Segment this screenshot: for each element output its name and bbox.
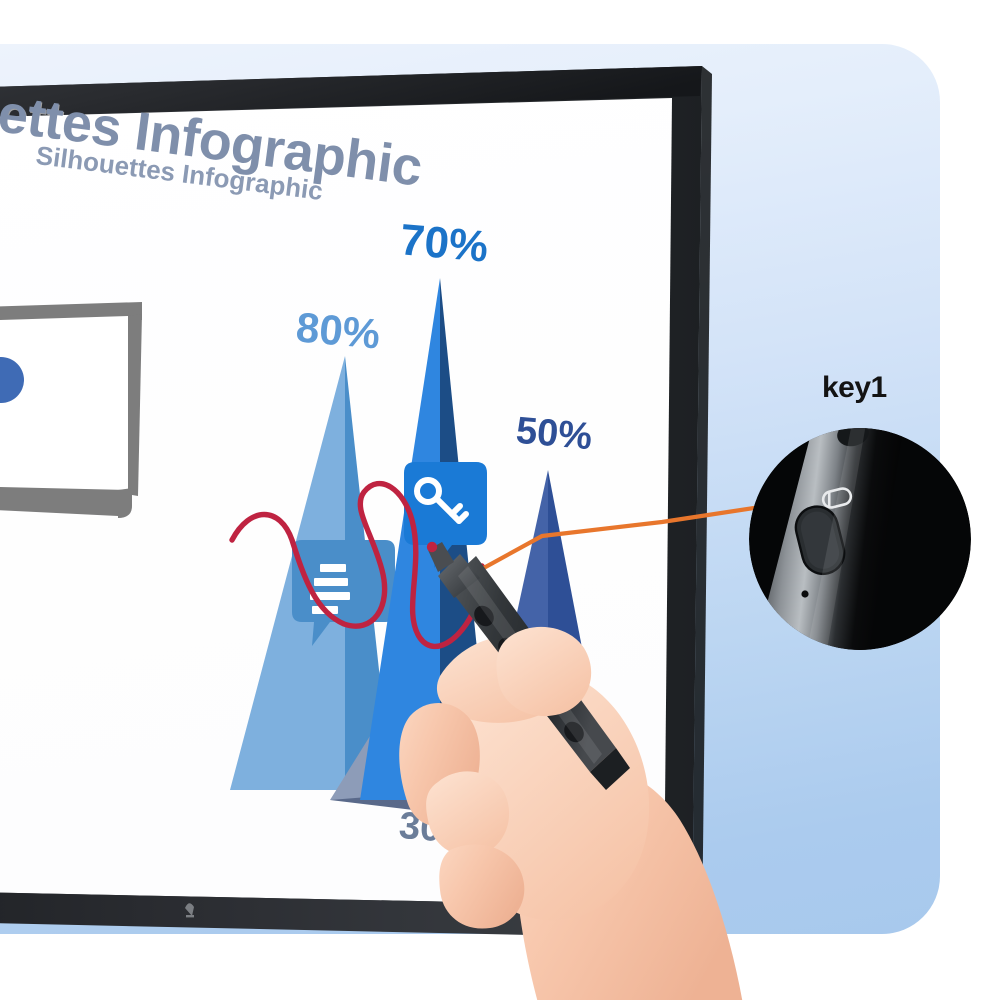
product-screenshot-stage: ouettes Infographic Silhouettes Infograp… <box>0 0 1000 1000</box>
presentation-board-icon <box>0 280 180 840</box>
pen-pinhole <box>801 590 808 597</box>
chart-label-70: 70% <box>398 218 490 270</box>
hand-holding-stylus <box>380 520 780 1000</box>
pen-tip <box>427 542 437 552</box>
callout-label-key1: key1 <box>822 371 887 405</box>
chart-label-80: 80% <box>294 306 381 355</box>
callout-magnifier-circle <box>749 428 971 650</box>
index-fingertip <box>496 627 591 716</box>
chart-label-50: 50% <box>514 412 593 456</box>
middle-finger <box>426 771 509 856</box>
